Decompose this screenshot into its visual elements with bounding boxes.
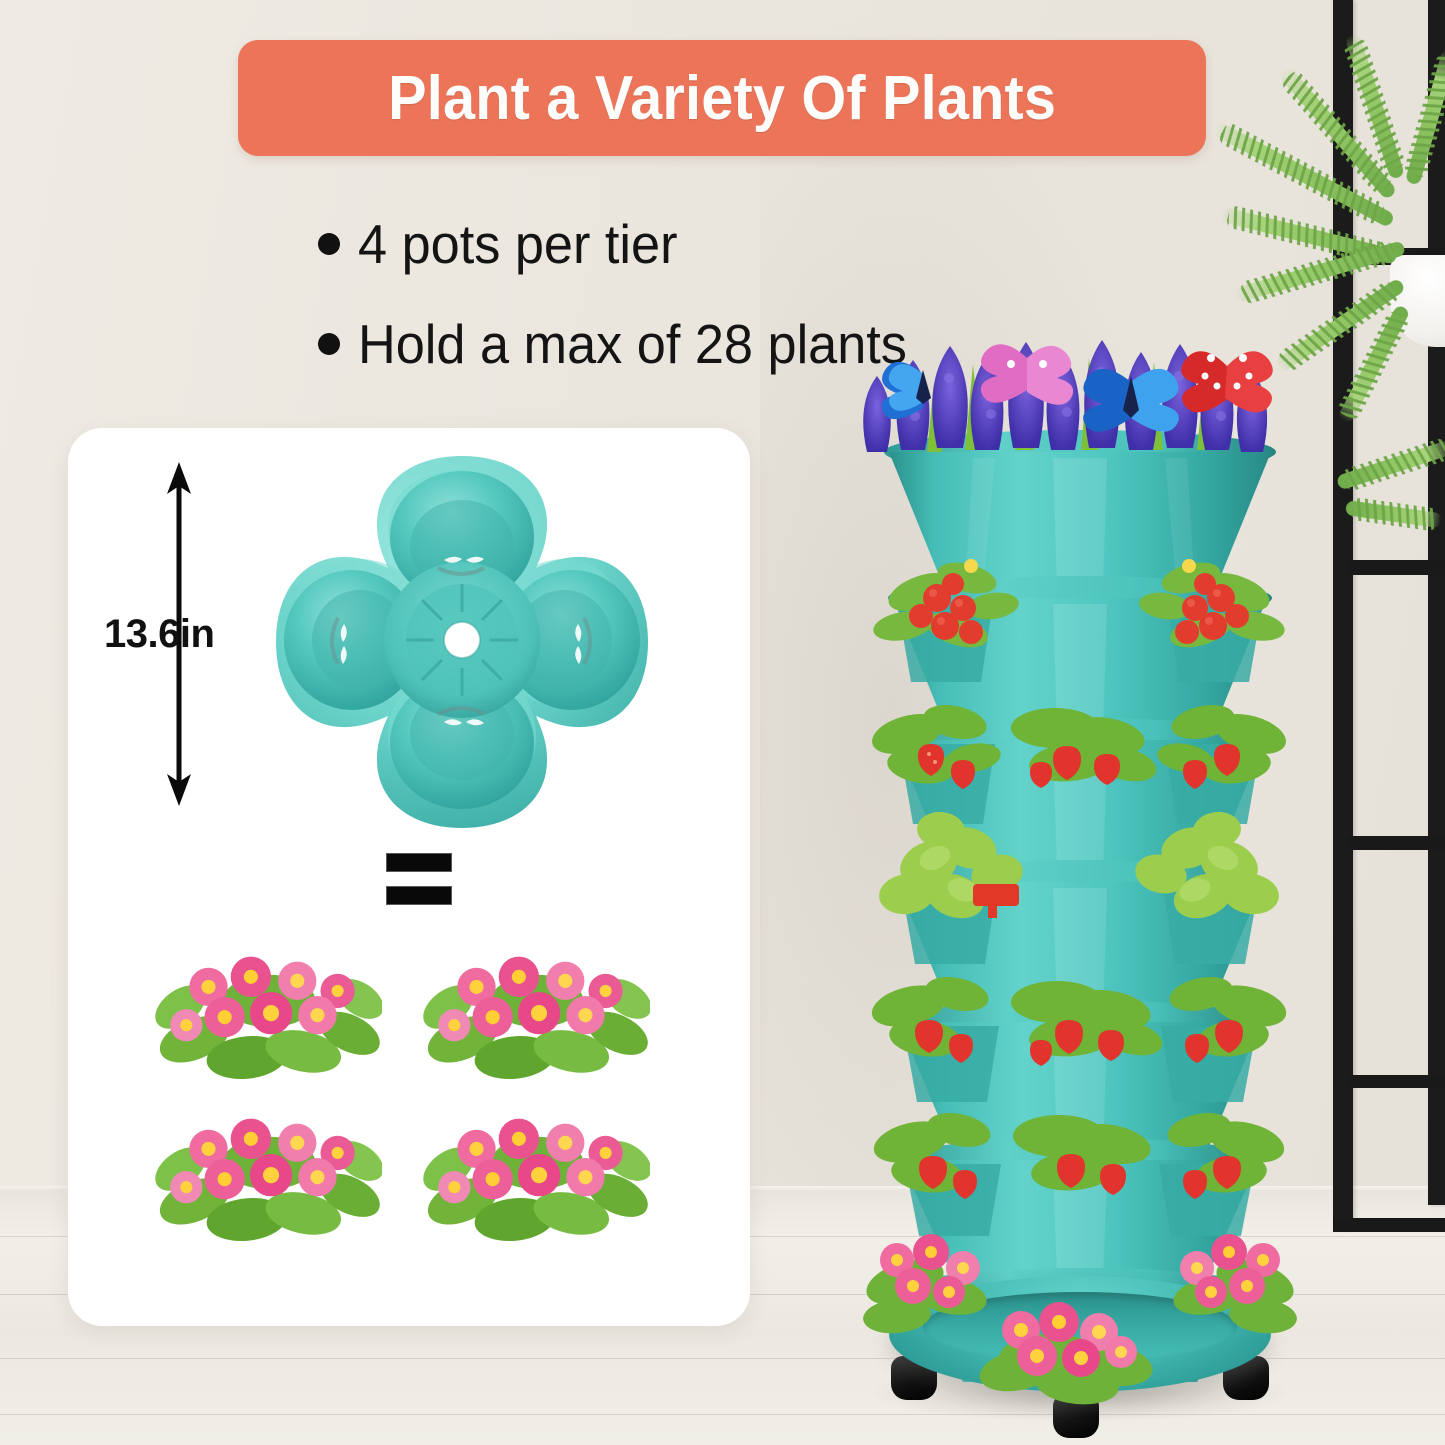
bullet-text: 4 pots per tier — [358, 212, 677, 276]
blossoms — [438, 957, 623, 1042]
tier-3-middle-upper — [890, 718, 1270, 878]
bullet-dot-icon — [318, 333, 340, 355]
tier-2-upper — [888, 576, 1272, 736]
shelf-rail-4 — [1348, 1075, 1445, 1088]
tier-6-lower — [896, 1138, 1264, 1286]
caster-wheel — [1053, 1394, 1099, 1438]
blossoms — [438, 1119, 623, 1204]
blossoms — [170, 1119, 355, 1204]
shelf-rail-base — [1333, 1218, 1445, 1232]
flower-cluster — [418, 1100, 650, 1256]
flower-cluster — [150, 938, 382, 1094]
title-banner: Plant a Variety Of Plants — [238, 40, 1206, 156]
dimension-label: 13.6in — [104, 612, 214, 657]
planter-tower — [845, 330, 1315, 1440]
list-item: 4 pots per tier — [318, 205, 1118, 283]
shelf-rail-2 — [1348, 560, 1445, 575]
equals-sign-icon — [386, 853, 452, 907]
base-tray — [889, 1276, 1271, 1392]
flower-cluster — [418, 938, 650, 1094]
blossoms — [170, 957, 355, 1042]
flower-cluster — [150, 1100, 382, 1256]
tier-4-middle — [892, 860, 1268, 1018]
planter-tier-top-view-icon — [256, 442, 668, 838]
flower-cluster-grid — [150, 938, 650, 1238]
page-title: Plant a Variety Of Plants — [388, 63, 1056, 134]
bullet-dot-icon — [318, 233, 340, 255]
tier-1-top — [884, 430, 1276, 595]
bullet-text: Hold a max of 28 plants — [358, 312, 907, 376]
tier-5-middle-lower — [894, 1000, 1266, 1156]
shelf-post-right — [1428, 0, 1445, 1205]
shelf-rail-3 — [1348, 836, 1445, 850]
